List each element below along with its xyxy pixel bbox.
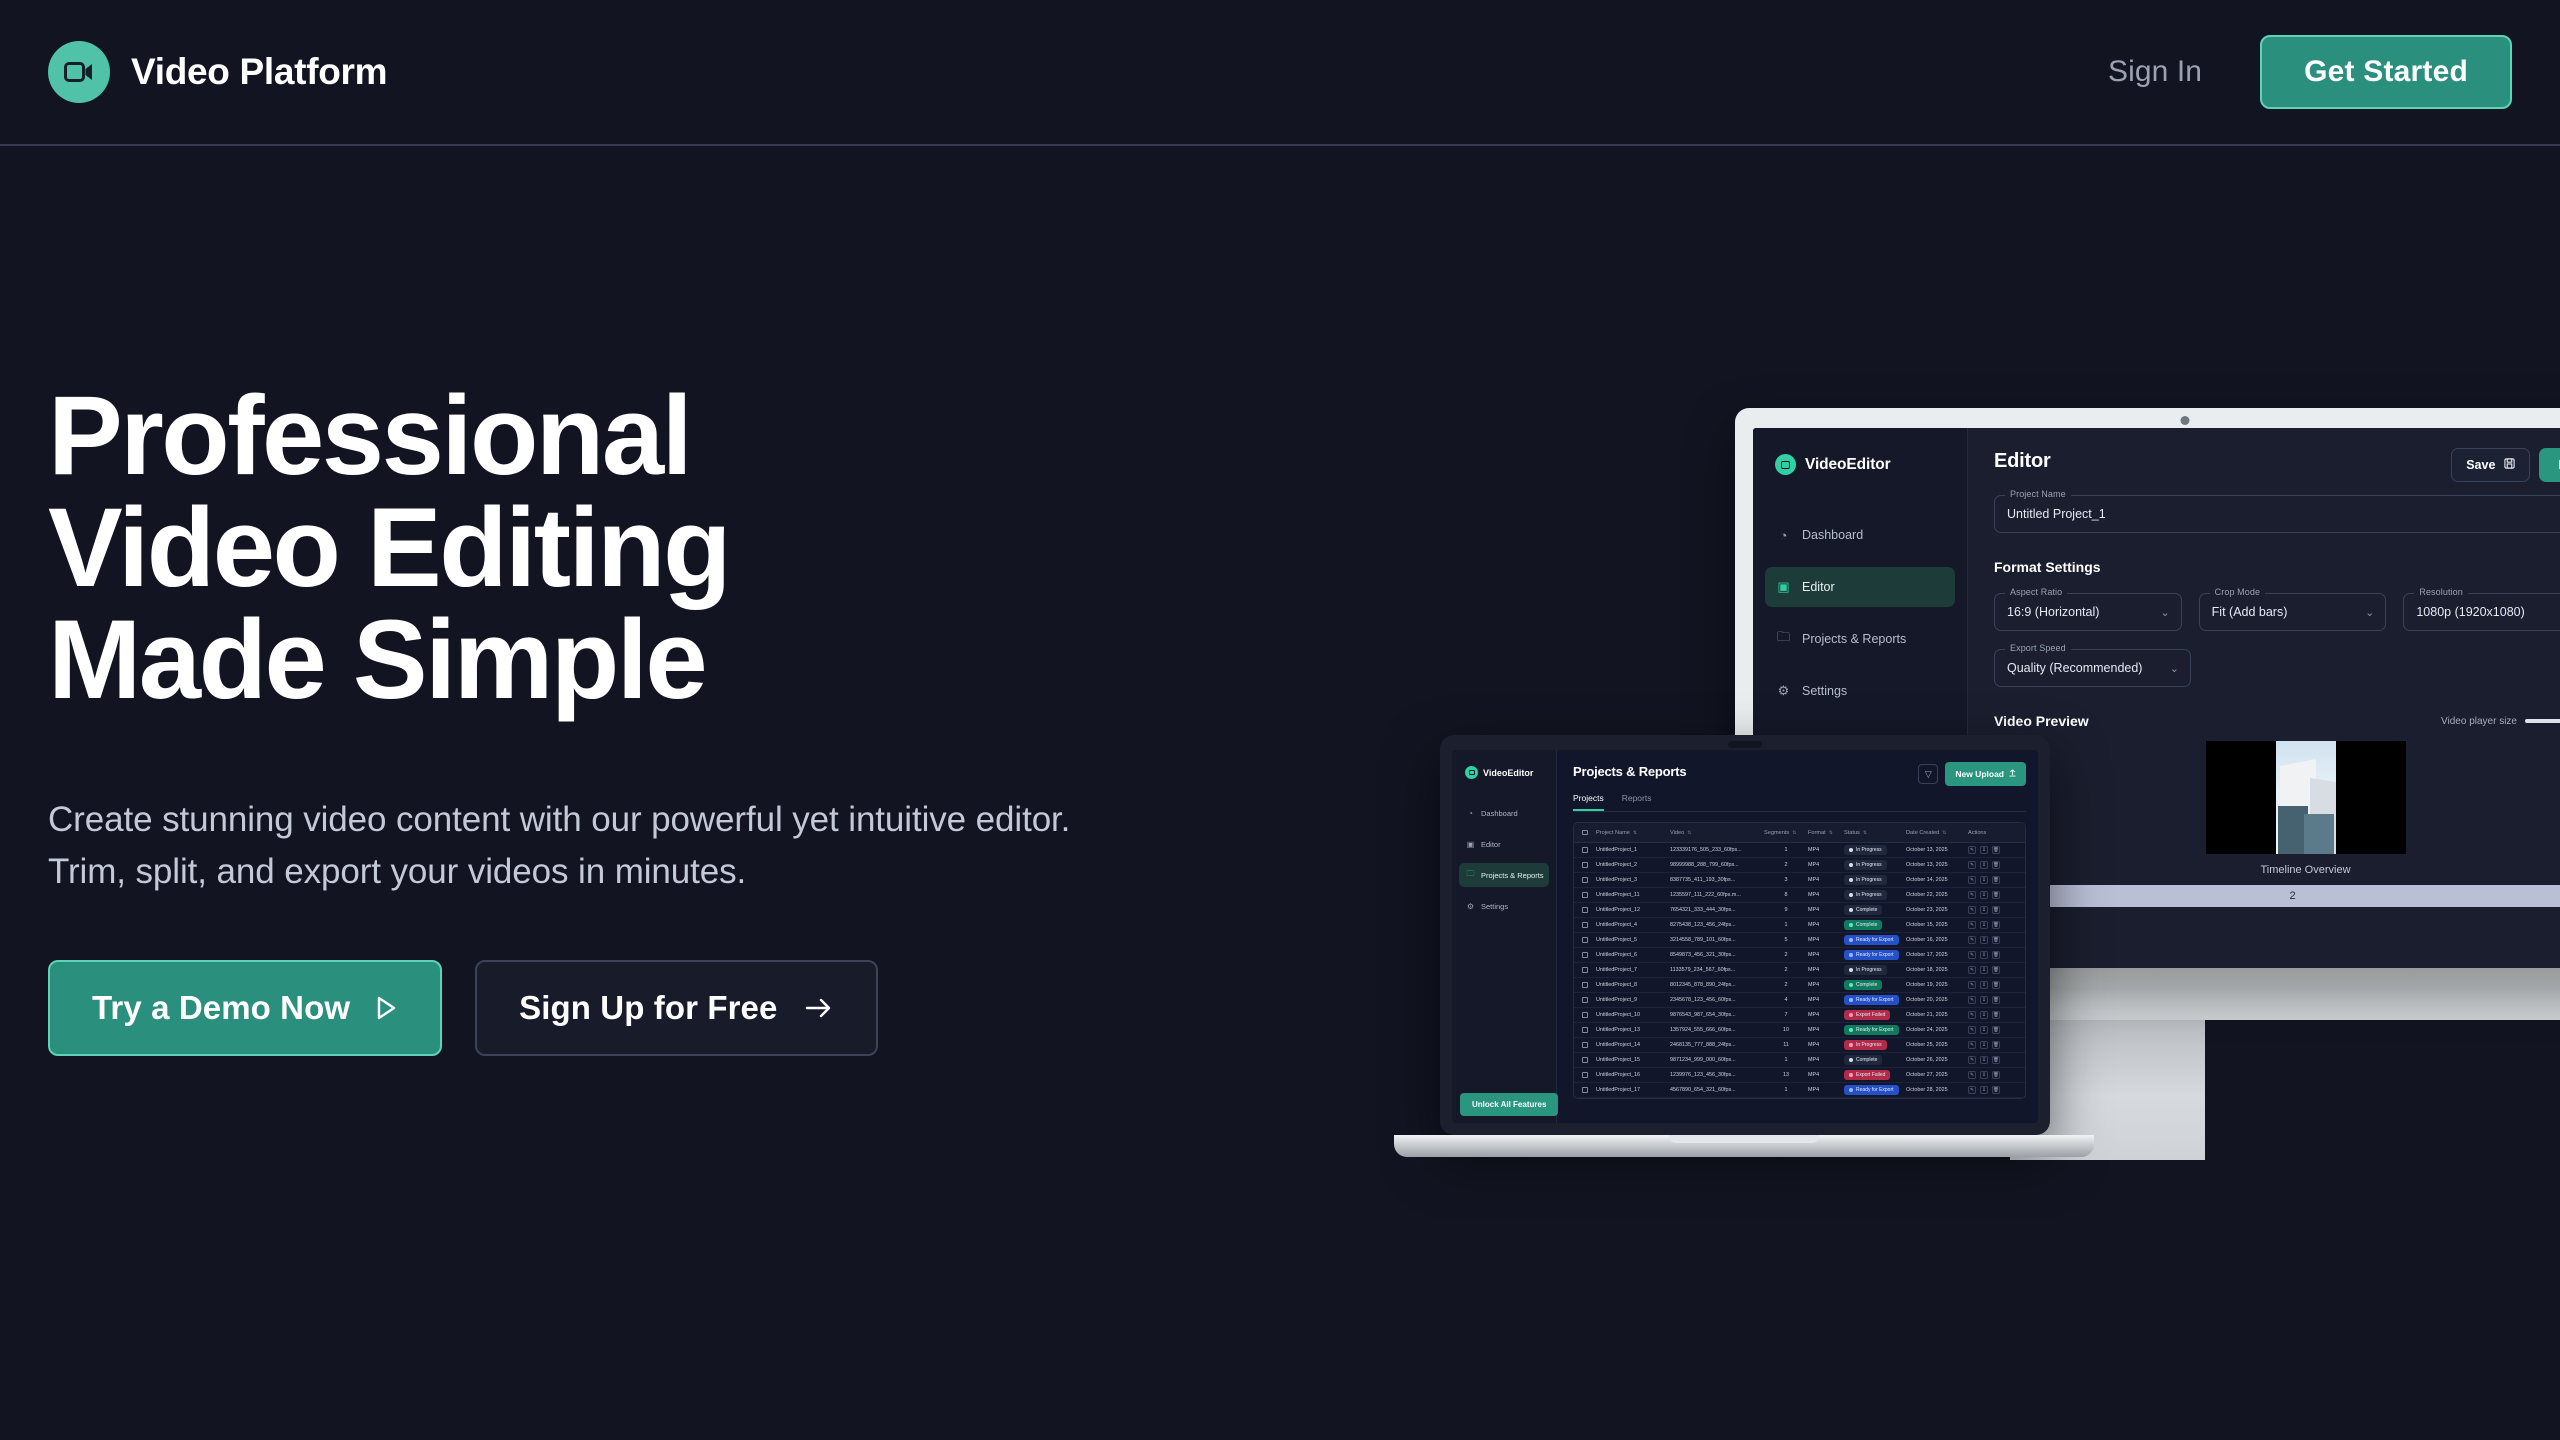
crop-mode-select[interactable]: Crop Mode Fit (Add bars) ⌄ <box>2199 593 2387 631</box>
row-checkbox[interactable] <box>1574 922 1596 928</box>
download-icon[interactable]: ↧ <box>1980 981 1988 989</box>
delete-icon[interactable]: 🗑 <box>1992 1086 2000 1094</box>
crop-mode-legend: Crop Mode <box>2210 587 2265 597</box>
sort-icon: ⇅ <box>1792 830 1796 836</box>
resolution-select[interactable]: Resolution 1080p (1920x1080) ⌄ <box>2403 593 2560 631</box>
video-camera-icon <box>1465 766 1478 779</box>
cell-date-created: October 13, 2025 <box>1906 847 1968 853</box>
table-row[interactable]: UntitledProject_53214558_789_101_60fps..… <box>1574 933 2025 948</box>
cell-date-created: October 28, 2025 <box>1906 1087 1968 1093</box>
tab-reports[interactable]: Reports <box>1622 793 1652 811</box>
status-badge: In Progress <box>1844 845 1887 855</box>
download-icon[interactable]: ↧ <box>1980 906 1988 914</box>
sidebar-item-settings[interactable]: ⚙ Settings <box>1765 671 1955 711</box>
status-badge: Export Failed <box>1844 1010 1890 1020</box>
table-row[interactable]: UntitledProject_48275438_123_456_24fps..… <box>1574 918 2025 933</box>
edit-icon[interactable]: ✎ <box>1968 1041 1976 1049</box>
status-badge: Ready for Export <box>1844 1085 1899 1095</box>
delete-icon[interactable]: 🗑 <box>1992 1026 2000 1034</box>
project-name-field[interactable]: Project Name Untitled Project_1 <box>1994 495 2560 533</box>
delete-icon[interactable]: 🗑 <box>1992 966 2000 974</box>
delete-icon[interactable]: 🗑 <box>1992 921 2000 929</box>
cell-video: 1235597_111_222_60fps.m... <box>1670 892 1764 898</box>
column-header-project-name[interactable]: Project Name⇅ <box>1596 830 1670 836</box>
edit-icon[interactable]: ✎ <box>1968 1056 1976 1064</box>
sidebar-item-label: Settings <box>1481 902 1508 911</box>
cell-project-name: UntitledProject_10 <box>1596 1012 1670 1018</box>
cell-segments: 5 <box>1764 937 1808 943</box>
cell-project-name: UntitledProject_7 <box>1596 967 1670 973</box>
get-started-button[interactable]: Get Started <box>2260 35 2512 109</box>
row-checkbox[interactable] <box>1574 1042 1596 1048</box>
cell-project-name: UntitledProject_1 <box>1596 847 1670 853</box>
table-row[interactable]: UntitledProject_109876543_987_654_30fps.… <box>1574 1008 2025 1023</box>
cell-date-created: October 22, 2025 <box>1906 892 1968 898</box>
delete-icon[interactable]: 🗑 <box>1992 846 2000 854</box>
delete-icon[interactable]: 🗑 <box>1992 1011 2000 1019</box>
table-row[interactable]: UntitledProject_159871234_999_000_60fps.… <box>1574 1053 2025 1068</box>
landing-page: Video Platform Sign In Get Started Profe… <box>0 0 2560 1440</box>
cell-format: MP4 <box>1808 847 1844 853</box>
row-checkbox[interactable] <box>1574 1087 1596 1093</box>
cell-status: Complete <box>1844 1055 1906 1065</box>
cell-segments: 13 <box>1764 1072 1808 1078</box>
download-icon[interactable]: ↧ <box>1980 1071 1988 1079</box>
cell-date-created: October 20, 2025 <box>1906 997 1968 1003</box>
download-icon[interactable]: ↧ <box>1980 1011 1988 1019</box>
column-header-date-created[interactable]: Date Created⇅ <box>1906 830 1968 836</box>
project-name-legend: Project Name <box>2005 489 2071 499</box>
hero-subtitle: Create stunning video content with our p… <box>48 794 1108 898</box>
cell-date-created: October 15, 2025 <box>1906 922 1968 928</box>
status-badge: Complete <box>1844 920 1882 930</box>
cell-segments: 1 <box>1764 922 1808 928</box>
editor-brand: VideoEditor <box>1753 454 1967 475</box>
sort-icon: ⇅ <box>1687 830 1691 836</box>
edit-icon[interactable]: ✎ <box>1968 921 1976 929</box>
cell-actions: ✎↧🗑 <box>1968 1056 2014 1064</box>
delete-icon[interactable]: 🗑 <box>1992 951 2000 959</box>
filter-icon[interactable]: ▽ <box>1918 764 1938 784</box>
cell-status: In Progress <box>1844 845 1906 855</box>
cell-format: MP4 <box>1808 1057 1844 1063</box>
delete-icon[interactable]: 🗑 <box>1992 996 2000 1004</box>
sidebar-item-settings[interactable]: ⚙ Settings <box>1459 894 1549 918</box>
download-icon[interactable]: ↧ <box>1980 1041 1988 1049</box>
cell-date-created: October 13, 2025 <box>1906 862 1968 868</box>
row-checkbox[interactable] <box>1574 937 1596 943</box>
cell-actions: ✎↧🗑 <box>1968 921 2014 929</box>
cell-status: In Progress <box>1844 860 1906 870</box>
format-settings-title: Format Settings <box>1994 559 2560 575</box>
folder-icon: 🗀 <box>1466 868 1475 882</box>
delete-icon[interactable]: 🗑 <box>1992 876 2000 884</box>
cell-project-name: UntitledProject_6 <box>1596 952 1670 958</box>
hero-cta-group: Try a Demo Now Sign Up for Free <box>48 960 1148 1056</box>
cell-status: Ready for Export <box>1844 1085 1906 1095</box>
cell-segments: 2 <box>1764 982 1808 988</box>
monitor-camera-icon <box>2181 416 2190 425</box>
delete-icon[interactable]: 🗑 <box>1992 981 2000 989</box>
navbar-actions: Sign In Get Started <box>2108 35 2512 109</box>
cell-format: MP4 <box>1808 892 1844 898</box>
cell-format: MP4 <box>1808 1042 1844 1048</box>
headline-line-1: Professional <box>48 380 1148 492</box>
cell-video: 8012345_878_890_24fps... <box>1670 982 1764 988</box>
delete-icon[interactable]: 🗑 <box>1992 891 2000 899</box>
sidebar-item-label: Editor <box>1802 580 1835 594</box>
cell-actions: ✎↧🗑 <box>1968 861 2014 869</box>
cell-actions: ✎↧🗑 <box>1968 1041 2014 1049</box>
status-badge: Complete <box>1844 1055 1882 1065</box>
cell-status: Ready for Export <box>1844 1025 1906 1035</box>
column-header-segments[interactable]: Segments⇅ <box>1764 830 1808 836</box>
sidebar-item-label: Dashboard <box>1802 528 1863 542</box>
cell-video: 123339176_505_233_60fps... <box>1670 847 1764 853</box>
cell-project-name: UntitledProject_5 <box>1596 937 1670 943</box>
cell-actions: ✎↧🗑 <box>1968 1026 2014 1034</box>
status-badge: Complete <box>1844 905 1882 915</box>
cell-date-created: October 18, 2025 <box>1906 967 1968 973</box>
table-header-row: Project Name⇅ Video⇅ Segments⇅ Format⇅ S… <box>1574 823 2025 843</box>
table-row[interactable]: UntitledProject_111235597_111_222_60fps.… <box>1574 888 2025 903</box>
table-row[interactable]: UntitledProject_1123339176_505_233_60fps… <box>1574 843 2025 858</box>
edit-icon[interactable]: ✎ <box>1968 936 1976 944</box>
status-badge: Export Failed <box>1844 1070 1890 1080</box>
delete-icon[interactable]: 🗑 <box>1992 1071 2000 1079</box>
projects-tabs: Projects Reports <box>1573 793 2026 812</box>
cell-status: Complete <box>1844 905 1906 915</box>
row-checkbox[interactable] <box>1574 862 1596 868</box>
sidebar-item-dashboard[interactable]: ◔ Dashboard <box>1459 801 1549 825</box>
cell-project-name: UntitledProject_12 <box>1596 907 1670 913</box>
resolution-legend: Resolution <box>2414 587 2468 597</box>
table-row[interactable]: UntitledProject_142468135_777_888_24fps.… <box>1574 1038 2025 1053</box>
sort-icon: ⇅ <box>1942 830 1946 836</box>
cell-actions: ✎↧🗑 <box>1968 1071 2014 1079</box>
row-checkbox[interactable] <box>1574 1027 1596 1033</box>
cell-project-name: UntitledProject_11 <box>1596 892 1670 898</box>
status-badge: Ready for Export <box>1844 950 1899 960</box>
download-icon[interactable]: ↧ <box>1980 846 1988 854</box>
status-badge: In Progress <box>1844 875 1887 885</box>
table-row[interactable]: UntitledProject_71133579_234_567_60fps..… <box>1574 963 2025 978</box>
cell-status: Export Failed <box>1844 1070 1906 1080</box>
cell-format: MP4 <box>1808 1072 1844 1078</box>
try-demo-button[interactable]: Try a Demo Now <box>48 960 442 1056</box>
projects-toolbar: ▽ New Upload <box>1918 762 2026 786</box>
editor-brand-name: VideoEditor <box>1805 456 1891 474</box>
download-icon[interactable]: ↧ <box>1980 996 1988 1004</box>
save-label: Save <box>2466 458 2495 472</box>
gear-icon: ⚙ <box>1466 902 1475 911</box>
chevron-down-icon: ⌄ <box>2160 606 2169 619</box>
cell-actions: ✎↧🗑 <box>1968 951 2014 959</box>
chevron-down-icon: ⌄ <box>2170 662 2179 675</box>
status-badge: Ready for Export <box>1844 1025 1899 1035</box>
delete-icon[interactable]: 🗑 <box>1992 936 2000 944</box>
edit-icon[interactable]: ✎ <box>1968 1026 1976 1034</box>
tab-projects[interactable]: Projects <box>1573 793 1604 811</box>
page-title: Professional Video Editing Made Simple <box>48 380 1148 716</box>
cell-video: 1357924_555_666_60fps... <box>1670 1027 1764 1033</box>
download-icon[interactable]: ↧ <box>1980 891 1988 899</box>
edit-icon[interactable]: ✎ <box>1968 846 1976 854</box>
cell-format: MP4 <box>1808 922 1844 928</box>
download-icon[interactable]: ↧ <box>1980 936 1988 944</box>
laptop-sidebar: VideoEditor ◔ Dashboard ▣ Editor 🗀 Pr <box>1452 750 1557 1123</box>
cell-project-name: UntitledProject_3 <box>1596 877 1670 883</box>
upload-icon <box>2009 769 2016 779</box>
laptop-brand: VideoEditor <box>1452 766 1556 779</box>
sort-icon: ⇅ <box>1829 830 1833 836</box>
row-checkbox[interactable] <box>1574 847 1596 853</box>
cell-project-name: UntitledProject_4 <box>1596 922 1670 928</box>
unlock-all-features-button[interactable]: Unlock All Features <box>1460 1093 1558 1116</box>
sign-up-free-button[interactable]: Sign Up for Free <box>475 960 878 1056</box>
edit-icon[interactable]: ✎ <box>1968 906 1976 914</box>
edit-icon[interactable]: ✎ <box>1968 1011 1976 1019</box>
row-checkbox[interactable] <box>1574 892 1596 898</box>
cell-status: In Progress <box>1844 1040 1906 1050</box>
laptop-camera-icon <box>1728 741 1762 748</box>
export-button: Export <box>2539 448 2560 482</box>
download-icon[interactable]: ↧ <box>1980 921 1988 929</box>
cell-date-created: October 25, 2025 <box>1906 1042 1968 1048</box>
cell-project-name: UntitledProject_13 <box>1596 1027 1670 1033</box>
cell-video: 98999988_288_799_60fps... <box>1670 862 1764 868</box>
delete-icon[interactable]: 🗑 <box>1992 1041 2000 1049</box>
delete-icon[interactable]: 🗑 <box>1992 906 2000 914</box>
cell-segments: 1 <box>1764 1057 1808 1063</box>
floppy-disk-icon <box>2504 458 2515 472</box>
video-camera-icon <box>1775 454 1796 475</box>
sidebar-item-dashboard[interactable]: ◔ Dashboard <box>1765 515 1955 555</box>
video-player-preview[interactable] <box>2206 741 2406 854</box>
cell-video: 1133579_234_567_60fps... <box>1670 967 1764 973</box>
save-button[interactable]: Save <box>2451 448 2530 482</box>
edit-icon[interactable]: ✎ <box>1968 996 1976 1004</box>
cell-project-name: UntitledProject_2 <box>1596 862 1670 868</box>
cell-segments: 1 <box>1764 1087 1808 1093</box>
sidebar-item-label: Projects & Reports <box>1802 632 1906 646</box>
row-checkbox[interactable] <box>1574 877 1596 883</box>
cell-actions: ✎↧🗑 <box>1968 906 2014 914</box>
table-row[interactable]: UntitledProject_92345678_123_456_60fps..… <box>1574 993 2025 1008</box>
cell-segments: 2 <box>1764 952 1808 958</box>
cell-date-created: October 27, 2025 <box>1906 1072 1968 1078</box>
laptop-screen: VideoEditor ◔ Dashboard ▣ Editor 🗀 Pr <box>1452 750 2038 1123</box>
project-name-value: Untitled Project_1 <box>2007 507 2106 521</box>
player-size-slider[interactable]: Video player size <box>2441 716 2560 727</box>
cell-date-created: October 16, 2025 <box>1906 937 1968 943</box>
delete-icon[interactable]: 🗑 <box>1992 861 2000 869</box>
table-row[interactable]: UntitledProject_131357924_555_666_60fps.… <box>1574 1023 2025 1038</box>
table-row[interactable]: UntitledProject_174567890_654_321_60fps.… <box>1574 1083 2025 1098</box>
cell-video: 4567890_654_321_60fps... <box>1670 1087 1764 1093</box>
column-header-format[interactable]: Format⇅ <box>1808 830 1844 836</box>
cell-actions: ✎↧🗑 <box>1968 981 2014 989</box>
status-badge: In Progress <box>1844 965 1887 975</box>
cell-actions: ✎↧🗑 <box>1968 996 2014 1004</box>
sidebar-item-projects-reports[interactable]: 🗀 Projects & Reports <box>1765 619 1955 659</box>
download-icon[interactable]: ↧ <box>1980 876 1988 884</box>
aspect-ratio-value: 16:9 (Horizontal) <box>2007 605 2099 619</box>
table-row[interactable]: UntitledProject_127654321_333_444_30fps.… <box>1574 903 2025 918</box>
table-row[interactable]: UntitledProject_68549873_456_321_30fps..… <box>1574 948 2025 963</box>
cell-project-name: UntitledProject_9 <box>1596 997 1670 1003</box>
video-preview-header: Video Preview Video player size <box>1994 713 2560 729</box>
sidebar-item-projects-reports[interactable]: 🗀 Projects & Reports <box>1459 863 1549 887</box>
row-checkbox[interactable] <box>1574 907 1596 913</box>
row-checkbox[interactable] <box>1574 967 1596 973</box>
download-icon[interactable]: ↧ <box>1980 861 1988 869</box>
cell-video: 7654321_333_444_30fps... <box>1670 907 1764 913</box>
cell-video: 8387735_411_193_30fps... <box>1670 877 1764 883</box>
cell-format: MP4 <box>1808 937 1844 943</box>
cell-segments: 2 <box>1764 862 1808 868</box>
sidebar-item-editor[interactable]: ▣ Editor <box>1459 832 1549 856</box>
chevron-down-icon: ⌄ <box>2365 606 2374 619</box>
projects-table: Project Name⇅ Video⇅ Segments⇅ Format⇅ S… <box>1573 822 2026 1099</box>
cell-date-created: October 14, 2025 <box>1906 877 1968 883</box>
cell-video: 9871234_999_000_60fps... <box>1670 1057 1764 1063</box>
cell-project-name: UntitledProject_16 <box>1596 1072 1670 1078</box>
laptop-lid: VideoEditor ◔ Dashboard ▣ Editor 🗀 Pr <box>1440 735 2050 1135</box>
row-checkbox[interactable] <box>1574 952 1596 958</box>
play-triangle-icon <box>374 995 398 1021</box>
table-row[interactable]: UntitledProject_38387735_411_193_30fps..… <box>1574 873 2025 888</box>
row-checkbox[interactable] <box>1574 997 1596 1003</box>
laptop-brand-name: VideoEditor <box>1483 768 1533 778</box>
cell-status: In Progress <box>1844 965 1906 975</box>
cell-date-created: October 24, 2025 <box>1906 1027 1968 1033</box>
folder-icon: 🗀 <box>1776 628 1791 650</box>
column-header-actions: Actions <box>1968 830 2014 836</box>
cell-format: MP4 <box>1808 877 1844 883</box>
row-checkbox[interactable] <box>1574 982 1596 988</box>
sidebar-item-label: Projects & Reports <box>1481 871 1544 880</box>
cell-video: 2468135_777_888_24fps... <box>1670 1042 1764 1048</box>
download-icon[interactable]: ↧ <box>1980 1056 1988 1064</box>
video-camera-icon: ▣ <box>1776 579 1791 595</box>
format-settings-row: Aspect Ratio 16:9 (Horizontal) ⌄ Crop Mo… <box>1994 575 2560 631</box>
cell-actions: ✎↧🗑 <box>1968 1011 2014 1019</box>
edit-icon[interactable]: ✎ <box>1968 966 1976 974</box>
cell-video: 2345678_123_456_60fps... <box>1670 997 1764 1003</box>
cell-format: MP4 <box>1808 1027 1844 1033</box>
cell-segments: 11 <box>1764 1042 1808 1048</box>
video-preview-title: Video Preview <box>1994 713 2089 729</box>
download-icon[interactable]: ↧ <box>1980 966 1988 974</box>
new-upload-button[interactable]: New Upload <box>1945 762 2026 786</box>
sign-up-free-label: Sign Up for Free <box>519 989 777 1027</box>
edit-icon[interactable]: ✎ <box>1968 1071 1976 1079</box>
sidebar-item-label: Dashboard <box>1481 809 1518 818</box>
delete-icon[interactable]: 🗑 <box>1992 1056 2000 1064</box>
cell-segments: 2 <box>1764 967 1808 973</box>
cell-actions: ✎↧🗑 <box>1968 876 2014 884</box>
table-row[interactable]: UntitledProject_298999988_288_799_60fps.… <box>1574 858 2025 873</box>
editor-toolbar: Save Export <box>2451 448 2560 482</box>
cell-format: MP4 <box>1808 1087 1844 1093</box>
download-icon[interactable]: ↧ <box>1980 1026 1988 1034</box>
sidebar-item-editor[interactable]: ▣ Editor <box>1765 567 1955 607</box>
export-speed-select[interactable]: Export Speed Quality (Recommended) ⌄ <box>1994 649 2191 687</box>
cell-actions: ✎↧🗑 <box>1968 891 2014 899</box>
cell-project-name: UntitledProject_15 <box>1596 1057 1670 1063</box>
cell-format: MP4 <box>1808 967 1844 973</box>
cell-actions: ✎↧🗑 <box>1968 966 2014 974</box>
video-camera-icon <box>48 41 110 103</box>
edit-icon[interactable]: ✎ <box>1968 981 1976 989</box>
cell-actions: ✎↧🗑 <box>1968 846 2014 854</box>
cell-format: MP4 <box>1808 982 1844 988</box>
row-checkbox[interactable] <box>1574 1072 1596 1078</box>
row-checkbox[interactable] <box>1574 1057 1596 1063</box>
status-badge: In Progress <box>1844 860 1887 870</box>
cell-segments: 10 <box>1764 1027 1808 1033</box>
sort-icon: ⇅ <box>1863 830 1867 836</box>
table-row[interactable]: UntitledProject_161239976_123_456_30fps.… <box>1574 1068 2025 1083</box>
resolution-value: 1080p (1920x1080) <box>2416 605 2524 619</box>
cell-actions: ✎↧🗑 <box>1968 1086 2014 1094</box>
edit-icon[interactable]: ✎ <box>1968 861 1976 869</box>
brand[interactable]: Video Platform <box>48 41 387 103</box>
column-header-status[interactable]: Status⇅ <box>1844 830 1906 836</box>
aspect-ratio-select[interactable]: Aspect Ratio 16:9 (Horizontal) ⌄ <box>1994 593 2182 631</box>
edit-icon[interactable]: ✎ <box>1968 891 1976 899</box>
cell-format: MP4 <box>1808 997 1844 1003</box>
video-frame-image <box>2276 741 2336 854</box>
export-speed-legend: Export Speed <box>2005 643 2071 653</box>
video-camera-icon: ▣ <box>1466 840 1475 849</box>
arrow-right-icon <box>804 997 834 1019</box>
sign-in-link[interactable]: Sign In <box>2108 55 2202 89</box>
status-badge: In Progress <box>1844 890 1887 900</box>
cell-format: MP4 <box>1808 952 1844 958</box>
editor-main: Editor Save Export Project Name Untitled… <box>1968 428 2560 968</box>
cell-format: MP4 <box>1808 1012 1844 1018</box>
download-icon[interactable]: ↧ <box>1980 951 1988 959</box>
column-header-video[interactable]: Video⇅ <box>1670 830 1764 836</box>
export-speed-row: Export Speed Quality (Recommended) ⌄ <box>1994 631 2560 687</box>
edit-icon[interactable]: ✎ <box>1968 1086 1976 1094</box>
row-checkbox[interactable] <box>1574 1012 1596 1018</box>
cell-status: Ready for Export <box>1844 950 1906 960</box>
status-badge: In Progress <box>1844 1040 1887 1050</box>
edit-icon[interactable]: ✎ <box>1968 951 1976 959</box>
cell-segments: 1 <box>1764 847 1808 853</box>
slider-track[interactable] <box>2525 719 2560 723</box>
table-row[interactable]: UntitledProject_88012345_878_890_24fps..… <box>1574 978 2025 993</box>
download-icon[interactable]: ↧ <box>1980 1086 1988 1094</box>
brand-name: Video Platform <box>131 51 387 93</box>
laptop-base <box>1394 1135 2094 1157</box>
top-navbar: Video Platform Sign In Get Started <box>0 0 2560 146</box>
player-size-label: Video player size <box>2441 716 2517 727</box>
cell-video: 1239976_123_456_30fps... <box>1670 1072 1764 1078</box>
timeline-overview-label: Timeline Overview <box>1994 864 2560 876</box>
select-all-checkbox[interactable] <box>1574 830 1596 836</box>
cell-status: Complete <box>1844 920 1906 930</box>
cell-date-created: October 26, 2025 <box>1906 1057 1968 1063</box>
cell-video: 9876543_987_654_30fps... <box>1670 1012 1764 1018</box>
edit-icon[interactable]: ✎ <box>1968 876 1976 884</box>
timeline-bar[interactable]: 2 <box>1968 885 2560 907</box>
sidebar-item-label: Editor <box>1481 840 1501 849</box>
cell-video: 8549873_456_321_30fps... <box>1670 952 1764 958</box>
